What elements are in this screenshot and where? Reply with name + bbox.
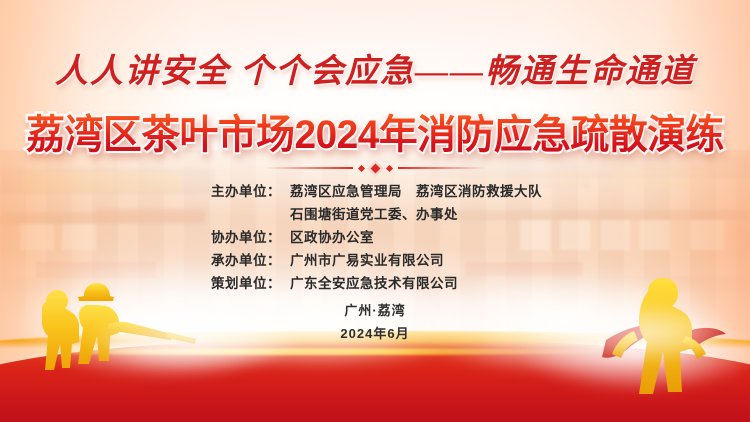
divider-gem	[367, 160, 383, 176]
footer-date: 2024年6月	[0, 323, 750, 346]
credit-row: 主办单位： 荔湾区应急管理局 荔湾区消防救援大队 石围塘街道党工委、办事处	[195, 180, 555, 223]
credits-block: 主办单位： 荔湾区应急管理局 荔湾区消防救援大队 石围塘街道党工委、办事处 协办…	[0, 180, 750, 292]
credit-label: 主办单位：	[195, 180, 281, 200]
divider-dot	[357, 164, 364, 171]
diamond-divider	[0, 160, 750, 176]
poster-slogan: 人人讲安全 个个会应急——畅通生命通道	[0, 44, 750, 92]
credit-row: 承办单位： 广州市广易实业有限公司	[195, 249, 555, 269]
poster-content: 人人讲安全 个个会应急——畅通生命通道 荔湾区茶叶市场2024年消防应急疏散演练…	[0, 0, 750, 422]
credit-values: 区政协办公室	[281, 226, 374, 246]
credit-row: 策划单位： 广东全安应急技术有限公司	[195, 272, 555, 292]
poster-footer: 广州·荔湾 2024年6月	[0, 300, 750, 346]
credit-values: 荔湾区应急管理局 荔湾区消防救援大队 石围塘街道党工委、办事处	[281, 180, 542, 223]
divider-line-right	[398, 167, 486, 169]
credit-label: 承办单位：	[195, 249, 281, 269]
credit-value: 广州市广易实业有限公司	[290, 249, 444, 269]
credit-value: 区政协办公室	[290, 226, 374, 246]
divider-line-left	[265, 167, 353, 169]
credit-value: 广东全安应急技术有限公司	[290, 272, 458, 292]
credit-label: 协办单位：	[195, 226, 281, 246]
footer-location: 广州·荔湾	[0, 300, 750, 323]
divider-dot	[385, 164, 392, 171]
credit-values: 广东全安应急技术有限公司	[281, 272, 458, 292]
poster-headline: 荔湾区茶叶市场2024年消防应急疏散演练	[11, 102, 739, 160]
poster-canvas: 人人讲安全 个个会应急——畅通生命通道 荔湾区茶叶市场2024年消防应急疏散演练…	[0, 0, 750, 422]
credit-row: 协办单位： 区政协办公室	[195, 226, 555, 246]
credit-label: 策划单位：	[195, 272, 281, 292]
credit-value: 荔湾区应急管理局 荔湾区消防救援大队	[290, 180, 542, 200]
credit-values: 广州市广易实业有限公司	[281, 249, 444, 269]
credit-value: 石围塘街道党工委、办事处	[290, 203, 542, 223]
